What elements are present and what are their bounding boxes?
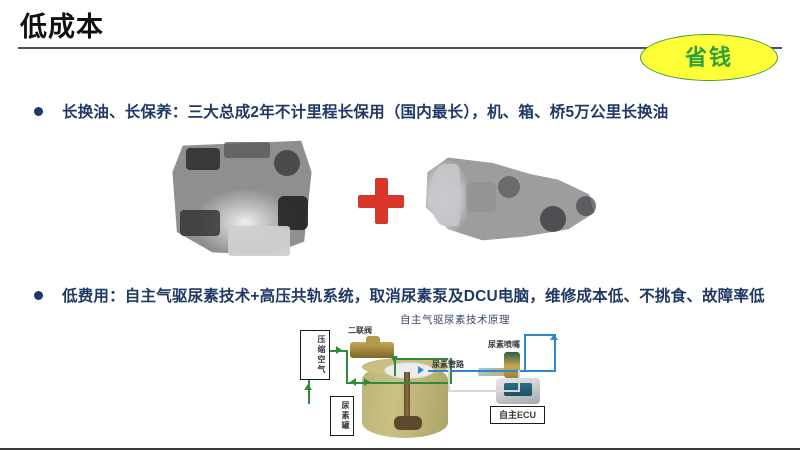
- flow-arrow-icon: [350, 378, 356, 386]
- plus-icon: [358, 178, 404, 224]
- gearbox-photo-detail: [576, 196, 596, 216]
- gearbox-photo-detail: [540, 206, 566, 232]
- urea-technology-diagram: 自主气驱尿素技术原理: [292, 312, 580, 440]
- diagram-label-urea-tank: 尿素罐: [330, 396, 354, 436]
- engine-photo-detail: [180, 210, 220, 236]
- page-title: 低成本: [20, 10, 104, 44]
- wire-segment: [518, 370, 520, 392]
- engine-photo-detail: [274, 150, 300, 176]
- flow-arrow-icon: [336, 346, 342, 354]
- bullet-item-1-text: 长换油、长保养：三大总成2年不计里程长保用（国内最长），机、箱、桥5万公里长换油: [62, 100, 669, 126]
- flow-arrow-icon: [418, 366, 424, 374]
- flow-arrow-icon: [304, 384, 312, 390]
- diagram-label-urea-pipe: 尿素管路: [432, 360, 464, 370]
- status-badge-label: 省钱: [685, 47, 733, 69]
- engine-photo-detail: [278, 196, 308, 230]
- bullet-dot-icon: [34, 291, 43, 300]
- dual-valve-cap-shape: [366, 336, 380, 346]
- gearbox-photo-detail: [466, 182, 496, 212]
- flow-arrow-icon: [550, 334, 558, 340]
- engine-photo-detail: [186, 148, 220, 170]
- diagram-label-dual-valve: 二联阀: [348, 326, 372, 336]
- bullet-item-2: 低费用：自主气驱尿素技术+高压共轨系统，取消尿素泵及DCU电脑，维修成本低、不挑…: [34, 284, 774, 310]
- urea-tank-foot-shape: [394, 416, 422, 430]
- pipe-blue-segment: [524, 334, 526, 372]
- status-badge: 省钱: [640, 34, 778, 81]
- gearbox-photo-detail: [498, 176, 520, 198]
- diagram-title: 自主气驱尿素技术原理: [400, 312, 510, 327]
- diagram-label-urea-nozzle: 尿素喷嘴: [488, 340, 520, 350]
- diagram-label-compressed-air: 压缩空气: [300, 330, 330, 380]
- engine-photo-detail: [224, 142, 270, 158]
- diagram-label-ecu: 自主ECU: [490, 406, 545, 424]
- bullet-item-2-text: 低费用：自主气驱尿素技术+高压共轨系统，取消尿素泵及DCU电脑，维修成本低、不挑…: [62, 284, 765, 310]
- pipe-green-segment: [346, 350, 348, 384]
- engine-photo-detail: [228, 226, 290, 256]
- pipe-green-segment: [348, 382, 452, 384]
- bullet-dot-icon: [34, 107, 43, 116]
- pipe-blue-segment: [510, 370, 556, 372]
- wire-segment: [448, 390, 520, 392]
- bullet-item-1: 长换油、长保养：三大总成2年不计里程长保用（国内最长），机、箱、桥5万公里长换油: [34, 100, 782, 126]
- pipe-blue-segment: [428, 370, 522, 372]
- gearbox-photo-detail: [430, 164, 460, 226]
- slide-canvas: 低成本 省钱 长换油、长保养：三大总成2年不计里程长保用（国内最长），机、箱、桥…: [0, 0, 800, 450]
